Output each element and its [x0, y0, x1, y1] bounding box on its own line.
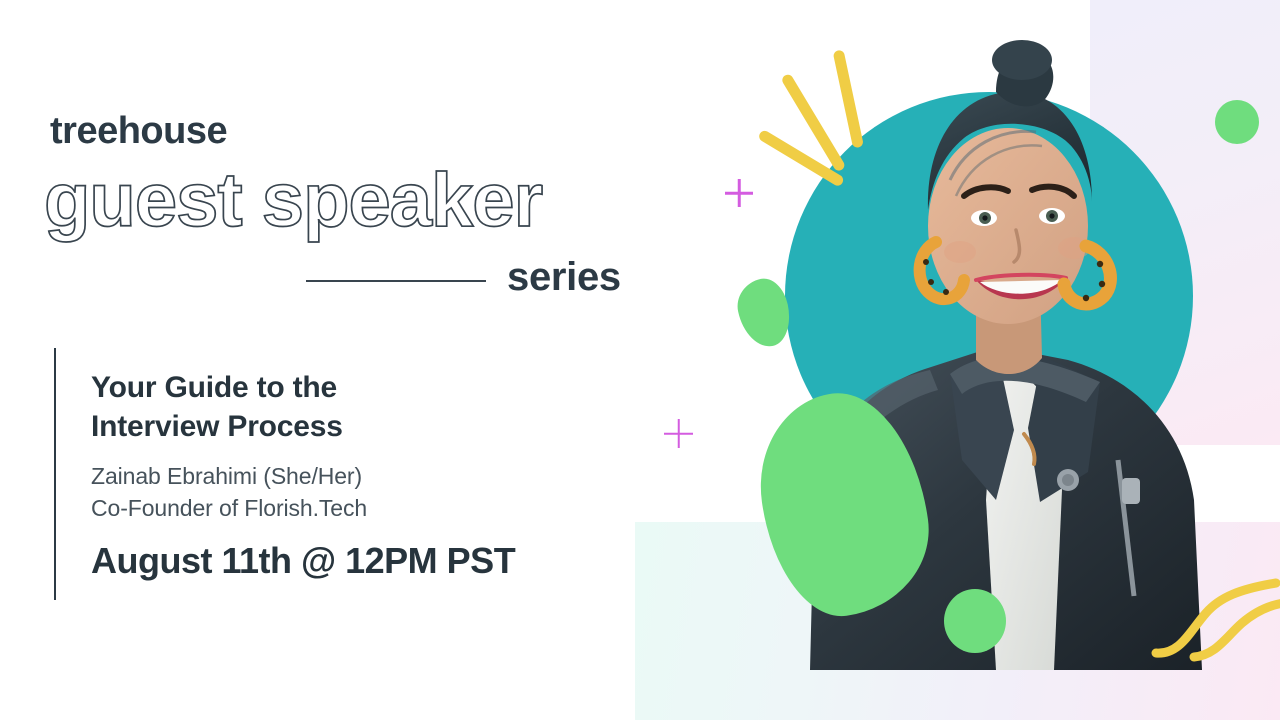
- event-detail-block: Your Guide to the Interview Process Zain…: [91, 368, 611, 582]
- talk-title: Your Guide to the Interview Process: [91, 368, 611, 446]
- magenta-plus-icon-lower: [664, 419, 693, 448]
- series-word: series: [507, 255, 621, 300]
- headline-outline-text: guest speaker: [44, 160, 542, 242]
- slide-canvas: treehouse guest speaker series Your Guid…: [0, 0, 1280, 720]
- magenta-plus-icon-upper: [725, 179, 753, 207]
- speaker-name: Zainab Ebrahimi (She/Her): [91, 461, 611, 493]
- detail-vertical-rule: [54, 348, 56, 600]
- green-circle-shape-bottom: [944, 589, 1006, 653]
- speaker-role: Co-Founder of Florish.Tech: [91, 493, 611, 525]
- brand-wordmark: treehouse: [50, 110, 227, 153]
- series-divider-rule: [306, 280, 486, 282]
- yellow-squiggle-lines: [1150, 575, 1280, 685]
- green-circle-shape-right: [1215, 100, 1259, 144]
- event-datetime: August 11th @ 12PM PST: [91, 540, 611, 582]
